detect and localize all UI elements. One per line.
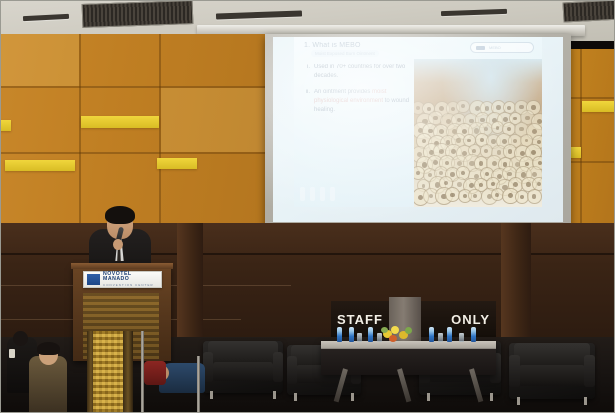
armchair <box>509 343 595 399</box>
chair-arm-right <box>273 352 283 381</box>
novotel-logo-icon <box>87 274 100 285</box>
slide-logo-badge: MEBO <box>470 42 534 53</box>
wall-accent-strip-3 <box>5 160 75 171</box>
flower-petal <box>391 326 399 334</box>
footer-mark <box>310 187 315 201</box>
chair-back <box>514 343 590 367</box>
audience-hair <box>37 342 60 355</box>
ceiling-vent-slot-1 <box>23 14 69 21</box>
flower-petal <box>405 327 412 334</box>
drinking-glass <box>438 333 443 342</box>
slide-bullet-list: i. Used in 70+ countries for over two de… <box>302 63 422 121</box>
tabletop-items <box>321 319 496 342</box>
chair-leg <box>294 393 297 401</box>
venue-subtitle: CONVENTION CENTER <box>103 284 158 287</box>
water-bottle <box>368 327 373 342</box>
chair-leg <box>490 393 493 401</box>
gold-patterned-curtain <box>93 331 125 413</box>
wall-accent-strip-1 <box>0 120 11 131</box>
audience-badge <box>9 349 15 358</box>
panel-highlight <box>161 88 269 152</box>
venue-name: NOVOTEL MANADO <box>103 272 158 282</box>
flower-petal <box>381 327 388 333</box>
wall-accent-strip-5 <box>582 101 615 112</box>
panel-seam <box>1 152 269 154</box>
wall-accent-strip-2 <box>81 116 159 128</box>
panel-seam <box>79 34 81 226</box>
chair-leg <box>351 393 354 401</box>
water-bottle <box>471 327 476 342</box>
bullet-number: ii. <box>302 88 310 116</box>
chair-arm-left <box>287 356 297 384</box>
badge-mark-icon <box>476 46 485 50</box>
dado-column <box>501 223 531 343</box>
wall-accent-strip-4 <box>157 158 197 169</box>
badge-label: MEBO <box>489 45 501 50</box>
bullet-text: Used in 70+ countries for over two decad… <box>314 63 422 82</box>
micrograph-cell <box>527 189 542 204</box>
bullet-number: i. <box>302 63 310 82</box>
list-item: i. Used in 70+ countries for over two de… <box>302 63 422 82</box>
chair-leg <box>584 397 587 405</box>
chair-arm-right <box>584 355 595 386</box>
footer-mark <box>320 187 325 201</box>
flower-petal <box>389 335 397 342</box>
dado-column <box>177 223 203 343</box>
bullet-text: An ointment provides moist physiological… <box>314 88 422 116</box>
audience-head <box>13 331 28 346</box>
panel-highlight <box>1 34 79 86</box>
chair-seat <box>213 362 274 381</box>
chair-back <box>208 341 278 363</box>
water-bottle <box>447 327 452 342</box>
chair-leg <box>517 397 520 405</box>
stage-table <box>321 341 496 375</box>
chair-seat <box>519 365 584 385</box>
ceiling-air-grille-right <box>563 0 615 23</box>
red-chair <box>144 361 166 385</box>
footer-mark <box>300 187 305 201</box>
presentation-slide: 1. What is MEBO Moist Exposed Burn Ointm… <box>294 37 542 207</box>
skin-tissue-micrograph <box>414 59 542 207</box>
ceiling-air-grille <box>82 0 194 28</box>
water-bottle <box>349 327 354 342</box>
venue-sign: NOVOTEL MANADO CONVENTION CENTER <box>83 271 162 288</box>
armchair <box>203 341 283 393</box>
drinking-glass <box>357 333 362 342</box>
slide-footer-marks <box>300 187 335 201</box>
slide-title: 1. What is MEBO <box>304 42 361 49</box>
lectern-top <box>71 263 173 269</box>
drinking-glass <box>459 333 464 342</box>
ceiling-vent-slot-2 <box>216 11 302 20</box>
chair-arm-left <box>509 355 520 386</box>
chair-leg <box>273 391 276 399</box>
micrograph-cell <box>456 100 470 114</box>
speaker-hand <box>113 239 123 250</box>
microphone-stand-right <box>197 356 200 413</box>
microphone-stand <box>141 331 144 413</box>
curtain-edge-right <box>123 331 133 413</box>
list-item: ii. An ointment provides moist physiolog… <box>302 88 422 116</box>
venue-sign-text: NOVOTEL MANADO CONVENTION CENTER <box>103 272 158 287</box>
slide-subtitle: Moist Exposed Burn Ointment <box>311 50 379 57</box>
footer-mark <box>330 187 335 201</box>
water-bottle <box>337 327 342 342</box>
ceiling-vent-slot-3 <box>441 9 507 16</box>
flower-arrangement <box>381 325 415 342</box>
speaker-glasses <box>109 220 131 226</box>
wall-panels-left <box>1 34 269 226</box>
water-bottle <box>429 327 434 342</box>
conference-presentation-photo: 1. What is MEBO Moist Exposed Burn Ointm… <box>0 0 615 413</box>
chair-leg <box>427 393 430 401</box>
chair-leg <box>210 391 213 399</box>
panel-seam <box>580 49 582 231</box>
